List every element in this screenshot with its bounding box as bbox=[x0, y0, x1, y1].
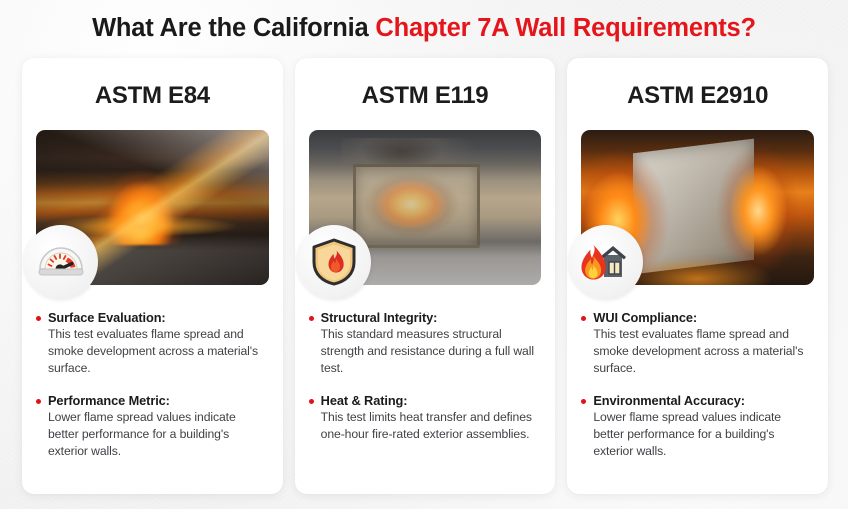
list-item: WUI Compliance: This test evaluates flam… bbox=[581, 309, 812, 377]
bullet-dot-icon bbox=[36, 316, 41, 321]
card-title: ASTM E2910 bbox=[567, 84, 828, 108]
card-astm-e119[interactable]: ASTM E119 Structural Integrity: bbox=[295, 58, 556, 494]
list-item: Performance Metric: Lower flame spread v… bbox=[36, 392, 267, 460]
card-image-area bbox=[581, 130, 814, 285]
bullet-heading: Surface Evaluation: bbox=[48, 309, 267, 326]
bullet-heading: Structural Integrity: bbox=[321, 309, 540, 326]
card-bullet-list: WUI Compliance: This test evaluates flam… bbox=[581, 309, 812, 460]
card-image-area bbox=[309, 130, 542, 285]
shield-flame-icon bbox=[297, 225, 371, 299]
bullet-heading: Performance Metric: bbox=[48, 392, 267, 409]
bullet-dot-icon bbox=[581, 316, 586, 321]
bullet-text: This test evaluates flame spread and smo… bbox=[48, 326, 267, 376]
list-item: Environmental Accuracy: Lower flame spre… bbox=[581, 392, 812, 460]
bullet-dot-icon bbox=[581, 399, 586, 404]
card-astm-e84[interactable]: ASTM E84 bbox=[22, 58, 283, 494]
bullet-heading: Heat & Rating: bbox=[321, 392, 540, 409]
bullet-text: This test evaluates flame spread and smo… bbox=[593, 326, 812, 376]
card-image-area bbox=[36, 130, 269, 285]
standards-card-row: ASTM E84 bbox=[22, 58, 828, 494]
page-title-accent: Chapter 7A Wall Requirements? bbox=[375, 14, 756, 42]
bullet-text: Lower flame spread values indicate bette… bbox=[593, 409, 812, 459]
page-title: What Are the California Chapter 7A Wall … bbox=[0, 13, 848, 44]
infographic-page: What Are the California Chapter 7A Wall … bbox=[0, 0, 848, 509]
bullet-dot-icon bbox=[309, 399, 314, 404]
bullet-text: Lower flame spread values indicate bette… bbox=[48, 409, 267, 459]
bullet-dot-icon bbox=[309, 316, 314, 321]
card-bullet-list: Surface Evaluation: This test evaluates … bbox=[36, 309, 267, 460]
card-astm-e2910[interactable]: ASTM E2910 bbox=[567, 58, 828, 494]
list-item: Structural Integrity: This standard meas… bbox=[309, 309, 540, 377]
bullet-heading: Environmental Accuracy: bbox=[593, 392, 812, 409]
bullet-dot-icon bbox=[36, 399, 41, 404]
bullet-text: This standard measures structural streng… bbox=[321, 326, 540, 376]
page-title-lead: What Are the California bbox=[92, 14, 375, 42]
list-item: Heat & Rating: This test limits heat tra… bbox=[309, 392, 540, 443]
card-title: ASTM E84 bbox=[22, 84, 283, 108]
house-flame-icon bbox=[569, 225, 643, 299]
list-item: Surface Evaluation: This test evaluates … bbox=[36, 309, 267, 377]
card-bullet-list: Structural Integrity: This standard meas… bbox=[309, 309, 540, 443]
bullet-heading: WUI Compliance: bbox=[593, 309, 812, 326]
gauge-flame-icon bbox=[24, 225, 98, 299]
card-title: ASTM E119 bbox=[295, 84, 556, 108]
bullet-text: This test limits heat transfer and defin… bbox=[321, 409, 540, 443]
